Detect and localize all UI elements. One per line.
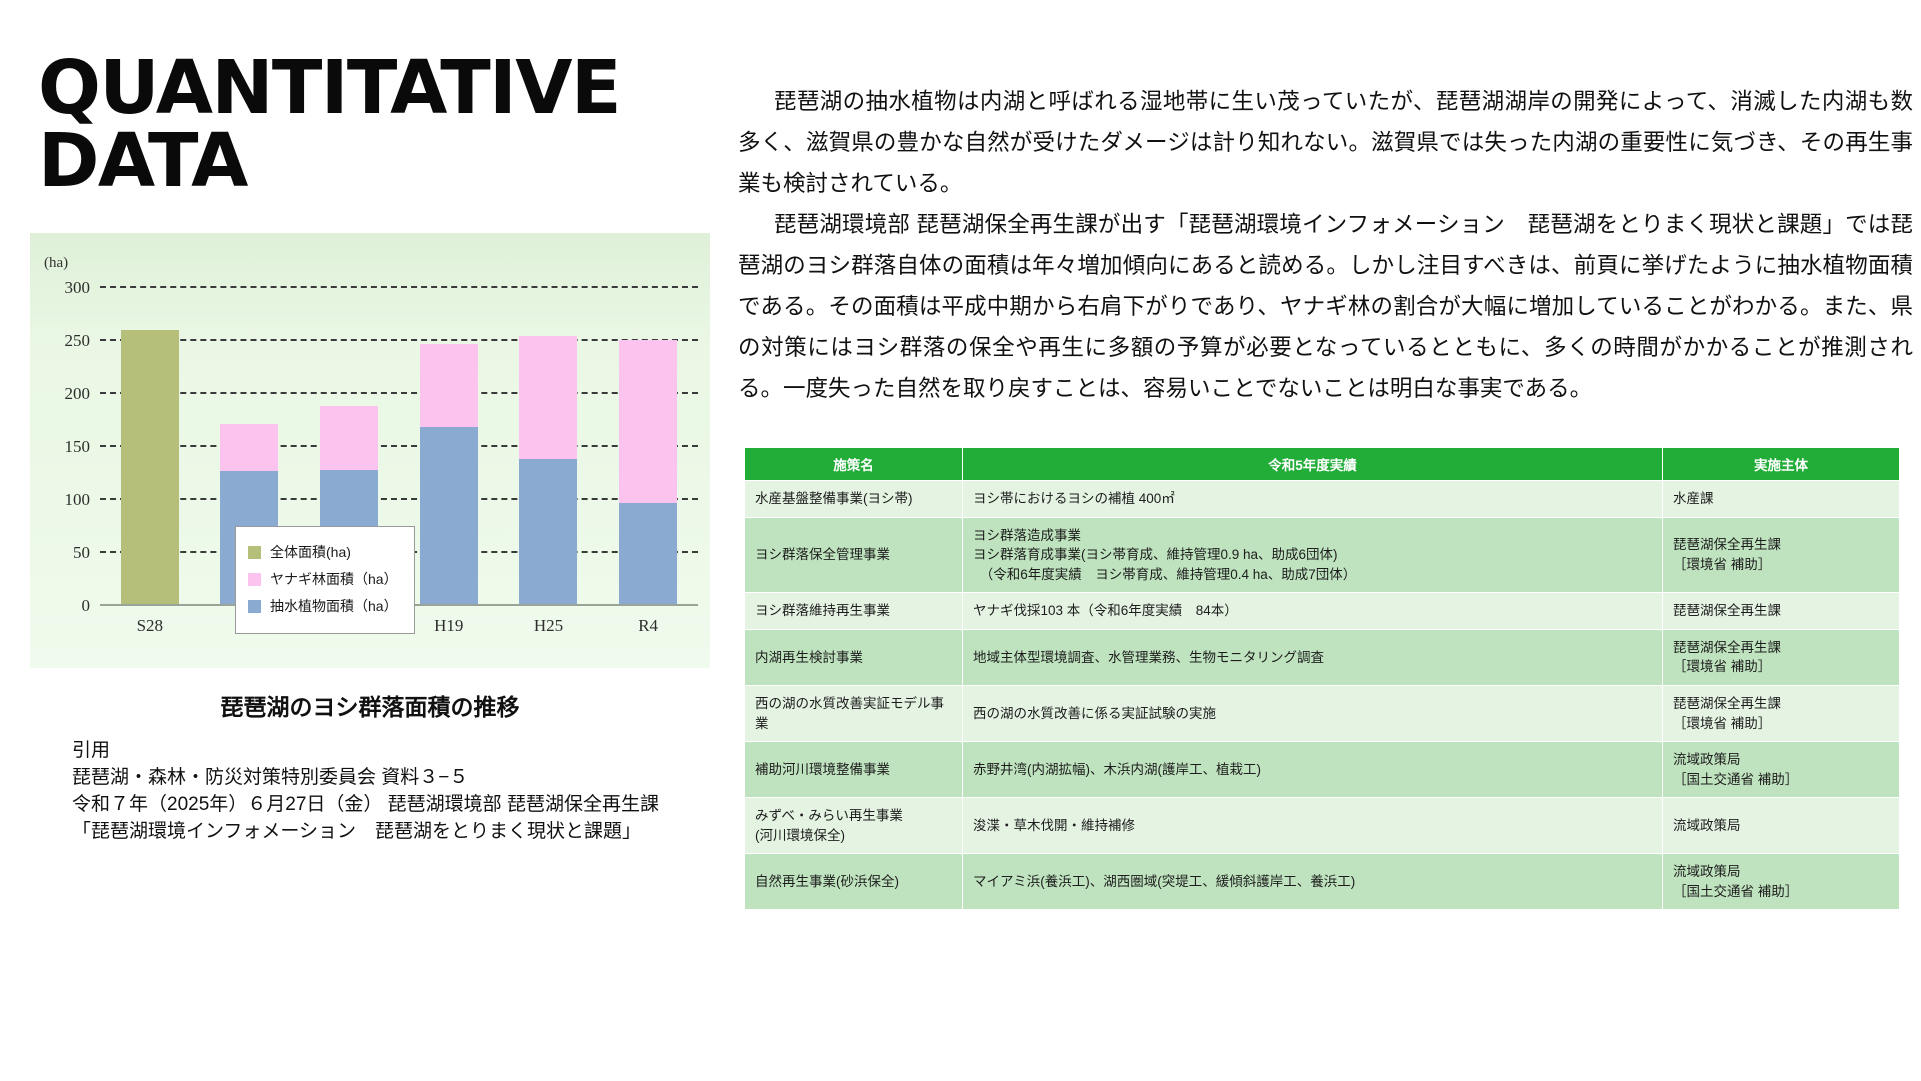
table-header-agency: 実施主体 xyxy=(1663,448,1900,481)
table-cell-result: ヤナギ伐採103 本（令和6年度実績 84本） xyxy=(963,593,1663,630)
body-text: 琵琶湖の抽水植物は内湖と呼ばれる湿地帯に生い茂っていたが、琵琶湖湖岸の開発によっ… xyxy=(738,82,1913,410)
chart-bar-segment-total xyxy=(121,330,179,606)
chart-bar: H25 xyxy=(519,288,577,606)
citation-label: 引用 xyxy=(72,738,722,765)
table-cell-result: ヨシ群落造成事業 ヨシ群落育成事業(ヨシ帯育成、維持管理0.9 ha、助成6団体… xyxy=(963,517,1663,593)
table-cell-result: 赤野井湾(内湖拡幅)、木浜内湖(護岸工、植栽工) xyxy=(963,742,1663,798)
table-cell-result: マイアミ浜(養浜工)、湖西圏域(突堤工、緩傾斜護岸工、養浜工) xyxy=(963,854,1663,910)
legend-item-emergent: 抽水植物面積（ha） xyxy=(248,596,398,616)
legend-label-willow: ヤナギ林面積（ha） xyxy=(270,569,398,589)
citation-block: 引用 琵琶湖・森林・防災対策特別委員会 資料３−５ 令和７年（2025年）６月2… xyxy=(72,738,722,846)
table-cell-policy: 補助河川環境整備事業 xyxy=(745,742,963,798)
table-cell-agency: 流域政策局 ［国土交通省 補助］ xyxy=(1663,854,1900,910)
chart-bar-segment-willow xyxy=(420,344,478,427)
chart-y-tick-label: 200 xyxy=(65,384,91,404)
table-row: ヨシ群落維持再生事業ヤナギ伐採103 本（令和6年度実績 84本）琵琶湖保全再生… xyxy=(745,593,1900,630)
table-cell-policy: 内湖再生検討事業 xyxy=(745,629,963,685)
table-row: 西の湖の水質改善実証モデル事業西の湖の水質改善に係る実証試験の実施琵琶湖保全再生… xyxy=(745,685,1900,741)
chart-bar-segment-emergent xyxy=(619,503,677,606)
table-row: 補助河川環境整備事業赤野井湾(内湖拡幅)、木浜内湖(護岸工、植栽工)流域政策局 … xyxy=(745,742,1900,798)
chart-panel: (ha) 050100150200250300 S28H4H9H19H25R4 … xyxy=(30,233,710,668)
chart-bar-segment-willow xyxy=(619,340,677,503)
body-paragraph-1: 琵琶湖の抽水植物は内湖と呼ばれる湿地帯に生い茂っていたが、琵琶湖湖岸の開発によっ… xyxy=(738,82,1913,205)
chart-y-tick-label: 100 xyxy=(65,490,91,510)
chart-x-tick-label: H25 xyxy=(534,616,563,636)
right-column: 琵琶湖の抽水植物は内湖と呼ばれる湿地帯に生い茂っていたが、琵琶湖湖岸の開発によっ… xyxy=(730,0,1921,1081)
legend-item-total: 全体面積(ha) xyxy=(248,542,398,562)
table-cell-policy: 水産基盤整備事業(ヨシ帯) xyxy=(745,481,963,518)
chart-bar-segment-emergent xyxy=(519,459,577,606)
chart-x-tick-label: R4 xyxy=(638,616,658,636)
table-body: 水産基盤整備事業(ヨシ帯)ヨシ帯におけるヨシの補植 400㎡水産課ヨシ群落保全管… xyxy=(745,481,1900,910)
table-cell-result: 西の湖の水質改善に係る実証試験の実施 xyxy=(963,685,1663,741)
chart-y-tick-label: 50 xyxy=(73,543,90,563)
left-column: QUANTITATIVE DATA (ha) 05010015020025030… xyxy=(0,0,730,1081)
table-row: みずべ・みらい再生事業 (河川環境保全)浚渫・草木伐開・維持補修流域政策局 xyxy=(745,798,1900,854)
chart-bar-segment-willow xyxy=(220,424,278,472)
legend-item-willow: ヤナギ林面積（ha） xyxy=(248,569,398,589)
table-cell-agency: 水産課 xyxy=(1663,481,1900,518)
body-paragraph-2: 琵琶湖環境部 琵琶湖保全再生課が出す「琵琶湖環境インフォメーション 琵琶湖をとり… xyxy=(738,205,1913,410)
table-header-result: 令和5年度実績 xyxy=(963,448,1663,481)
citation-line-1: 琵琶湖・森林・防災対策特別委員会 資料３−５ xyxy=(72,765,722,792)
chart-caption: 琵琶湖のヨシ群落面積の推移 xyxy=(30,688,710,722)
table-header-policy: 施策名 xyxy=(745,448,963,481)
chart-y-tick-label: 150 xyxy=(65,437,91,457)
table-cell-agency: 琵琶湖保全再生課 xyxy=(1663,593,1900,630)
table-cell-agency: 琵琶湖保全再生課 ［環境省 補助］ xyxy=(1663,517,1900,593)
table-row: ヨシ群落保全管理事業ヨシ群落造成事業 ヨシ群落育成事業(ヨシ帯育成、維持管理0.… xyxy=(745,517,1900,593)
table-cell-result: 浚渫・草木伐開・維持補修 xyxy=(963,798,1663,854)
table-row: 水産基盤整備事業(ヨシ帯)ヨシ帯におけるヨシの補植 400㎡水産課 xyxy=(745,481,1900,518)
chart-y-tick-label: 250 xyxy=(65,331,91,351)
table-cell-result: 地域主体型環境調査、水管理業務、生物モニタリング調査 xyxy=(963,629,1663,685)
page-title: QUANTITATIVE DATA xyxy=(38,52,718,197)
chart-bar-segment-willow xyxy=(519,336,577,459)
table-header-row: 施策名 令和5年度実績 実施主体 xyxy=(745,448,1900,481)
chart-y-tick-label: 300 xyxy=(65,278,91,298)
chart-unit-label: (ha) xyxy=(44,255,68,272)
chart-x-tick-label: S28 xyxy=(137,616,163,636)
table-row: 内湖再生検討事業地域主体型環境調査、水管理業務、生物モニタリング調査琵琶湖保全再… xyxy=(745,629,1900,685)
table-cell-agency: 琵琶湖保全再生課 ［環境省 補助］ xyxy=(1663,685,1900,741)
chart-legend: 全体面積(ha) ヤナギ林面積（ha） 抽水植物面積（ha） xyxy=(235,526,415,634)
table-cell-policy: ヨシ群落維持再生事業 xyxy=(745,593,963,630)
legend-swatch-willow xyxy=(248,573,261,586)
chart-bar: H19 xyxy=(420,288,478,606)
chart-y-tick-label: 0 xyxy=(82,596,91,616)
chart-bar-segment-emergent xyxy=(420,427,478,606)
table-cell-policy: みずべ・みらい再生事業 (河川環境保全) xyxy=(745,798,963,854)
table-cell-agency: 琵琶湖保全再生課 ［環境省 補助］ xyxy=(1663,629,1900,685)
table-cell-policy: 自然再生事業(砂浜保全) xyxy=(745,854,963,910)
citation-line-2: 令和７年（2025年）６月27日（金） 琵琶湖環境部 琵琶湖保全再生課 xyxy=(72,792,722,819)
table-cell-result: ヨシ帯におけるヨシの補植 400㎡ xyxy=(963,481,1663,518)
table-row: 自然再生事業(砂浜保全)マイアミ浜(養浜工)、湖西圏域(突堤工、緩傾斜護岸工、養… xyxy=(745,854,1900,910)
chart-bar: S28 xyxy=(121,288,179,606)
legend-swatch-total xyxy=(248,546,261,559)
table-cell-policy: ヨシ群落保全管理事業 xyxy=(745,517,963,593)
chart-x-tick-label: H19 xyxy=(434,616,463,636)
page-title-line-1: QUANTITATIVE xyxy=(38,52,718,125)
page-title-line-2: DATA xyxy=(38,125,718,198)
citation-line-3: 「琵琶湖環境インフォメーション 琵琶湖をとりまく現状と課題」 xyxy=(72,819,722,846)
table-cell-policy: 西の湖の水質改善実証モデル事業 xyxy=(745,685,963,741)
policy-measures-table: 施策名 令和5年度実績 実施主体 水産基盤整備事業(ヨシ帯)ヨシ帯におけるヨシの… xyxy=(744,447,1900,910)
legend-label-emergent: 抽水植物面積（ha） xyxy=(270,596,398,616)
table-cell-agency: 流域政策局 xyxy=(1663,798,1900,854)
legend-label-total: 全体面積(ha) xyxy=(270,542,351,562)
chart-bar-segment-willow xyxy=(320,406,378,471)
table-cell-agency: 流域政策局 ［国土交通省 補助］ xyxy=(1663,742,1900,798)
chart-bar: R4 xyxy=(619,288,677,606)
legend-swatch-emergent xyxy=(248,600,261,613)
